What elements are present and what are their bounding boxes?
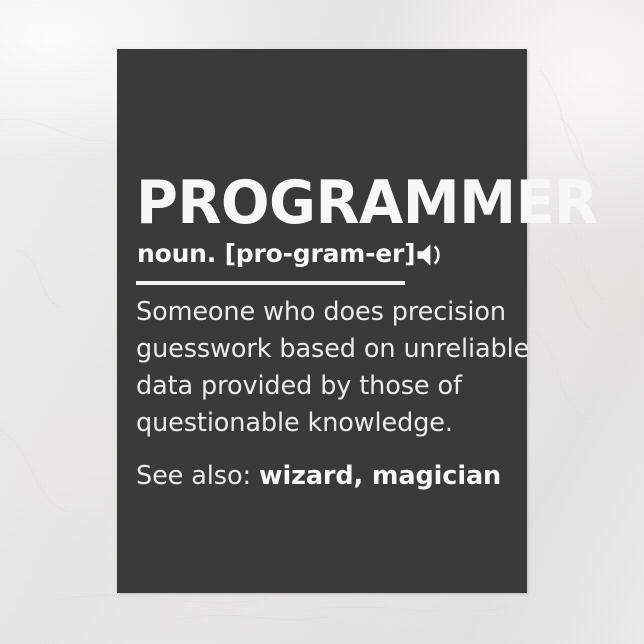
pronunciation-text: noun. [pro-gram-er]: [137, 239, 415, 269]
screenshot-stage: PROGRAMMER noun. [pro-gram-er] Someone w…: [0, 0, 644, 644]
definition-line: data provided by those of: [136, 368, 521, 405]
see-also-terms: wizard, magician: [259, 461, 501, 491]
card-content: PROGRAMMER noun. [pro-gram-er] Someone w…: [136, 49, 517, 593]
pronunciation-row: noun. [pro-gram-er]: [137, 239, 446, 269]
page-title: PROGRAMMER: [136, 173, 598, 233]
definition-line: questionable knowledge.: [136, 405, 521, 442]
see-also-label: See also:: [136, 461, 251, 491]
definition-text: Someone who does precision guesswork bas…: [136, 294, 521, 442]
definition-line: Someone who does precision: [136, 294, 521, 331]
divider-rule: [136, 281, 405, 285]
see-also-line: See also: wizard, magician: [136, 460, 501, 492]
speaker-volume-icon[interactable]: [416, 242, 446, 268]
definition-postcard: PROGRAMMER noun. [pro-gram-er] Someone w…: [117, 49, 527, 593]
definition-line: guesswork based on unreliable: [136, 331, 521, 368]
